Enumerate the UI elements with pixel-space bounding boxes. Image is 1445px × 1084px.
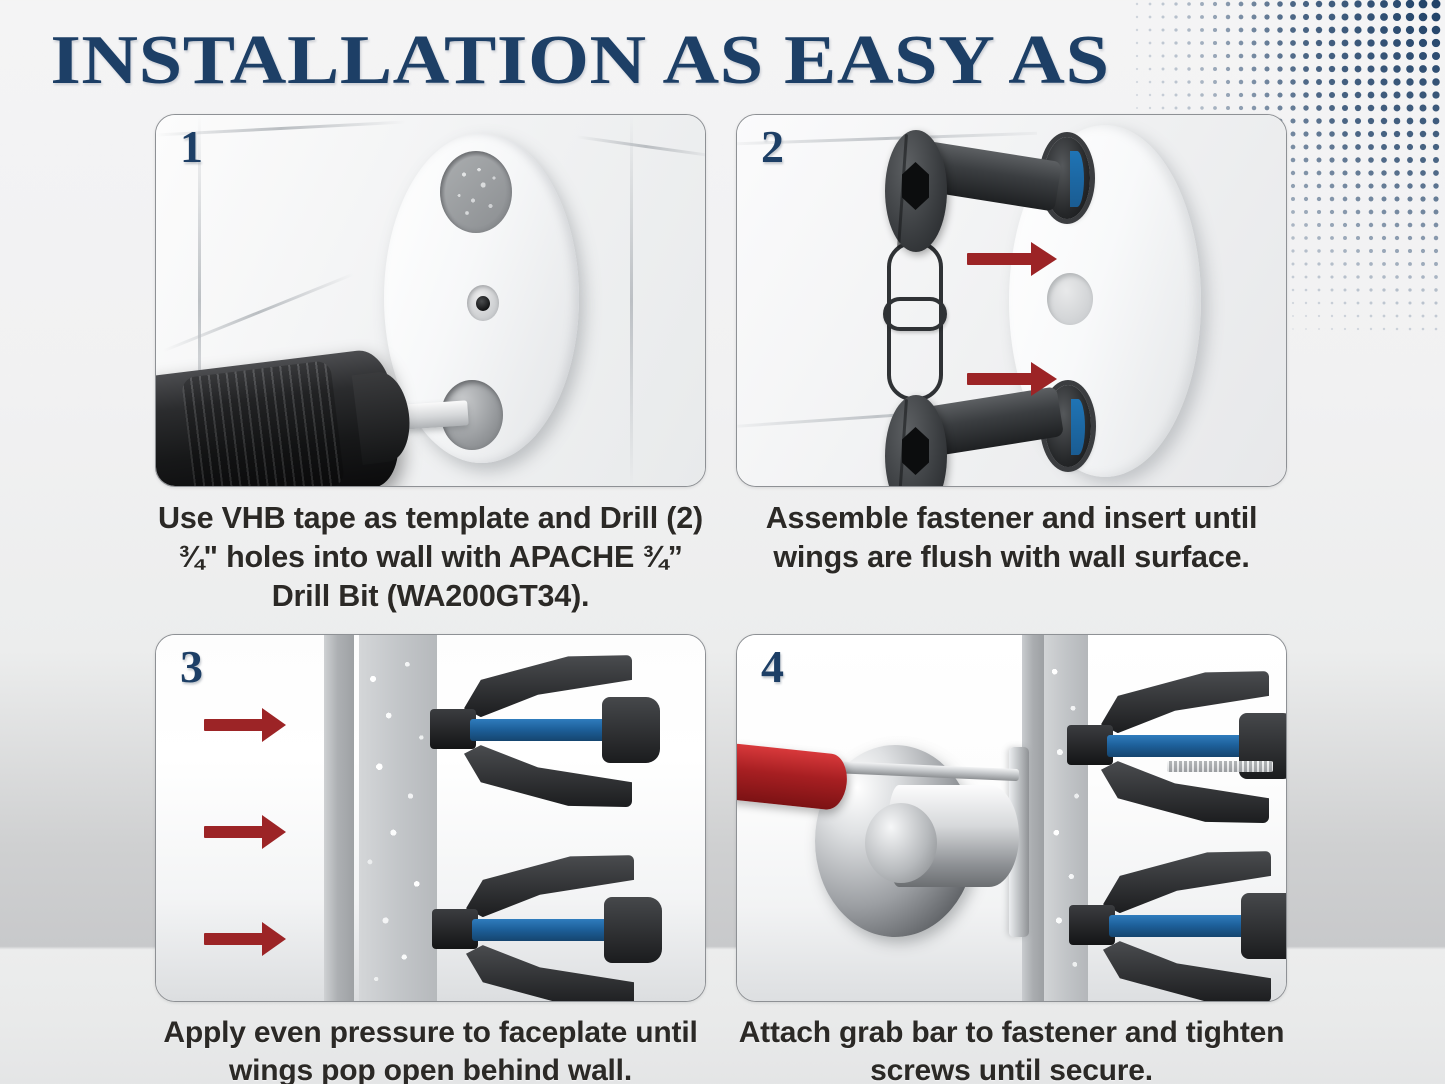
installation-steps-grid: 1 Use VHB tape as template and Drill (2)… <box>155 114 1287 1084</box>
anchor-bottom <box>1069 853 1287 1002</box>
step-4-caption: Attach grab bar to fastener and tighten … <box>736 1014 1287 1084</box>
page-title: INSTALLATION AS EASY AS <box>0 24 1230 98</box>
step-3-panel: 3 <box>155 634 706 1002</box>
direction-arrow-icon <box>204 708 286 742</box>
grab-bar-hub <box>865 803 937 883</box>
tile-layer <box>324 635 354 1001</box>
step-1-panel: 1 <box>155 114 706 487</box>
anchor-bottom <box>432 857 662 1002</box>
attach-grab-bar-cross-section <box>737 635 1286 1001</box>
fastener-head-top <box>885 130 947 252</box>
direction-arrow-icon <box>967 362 1057 396</box>
step-2-panel: 2 <box>736 114 1287 487</box>
wings-pop-open-cross-section <box>156 635 705 1001</box>
step-4-number: 4 <box>761 644 784 690</box>
step-1: 1 Use VHB tape as template and Drill (2)… <box>155 114 706 616</box>
direction-arrow-icon <box>204 922 286 956</box>
hex-key-handle <box>736 743 850 812</box>
wall-layer <box>359 635 437 1001</box>
anchor-screw <box>1167 761 1273 772</box>
direction-arrow-icon <box>967 242 1057 276</box>
assemble-fastener-illustration <box>737 115 1286 486</box>
step-3-caption: Apply even pressure to faceplate until w… <box>155 1014 706 1084</box>
step-4: 4 Attach grab bar to fastener and tighte… <box>736 634 1287 1084</box>
drill-through-template-illustration <box>156 115 705 486</box>
step-2-number: 2 <box>761 124 784 170</box>
direction-arrow-icon <box>204 815 286 849</box>
step-4-panel: 4 <box>736 634 1287 1002</box>
step-1-caption: Use VHB tape as template and Drill (2) ¾… <box>155 499 706 616</box>
step-2-caption: Assemble fastener and insert until wings… <box>736 499 1287 577</box>
anchor-top <box>430 657 660 807</box>
step-3-number: 3 <box>180 644 203 690</box>
anchor-top <box>1067 673 1287 823</box>
fastener-clip <box>883 297 947 331</box>
step-2: 2 Assemble fastener and insert until win… <box>736 114 1287 616</box>
step-1-number: 1 <box>180 124 203 170</box>
step-3: 3 Apply even pressure to faceplate until… <box>155 634 706 1084</box>
